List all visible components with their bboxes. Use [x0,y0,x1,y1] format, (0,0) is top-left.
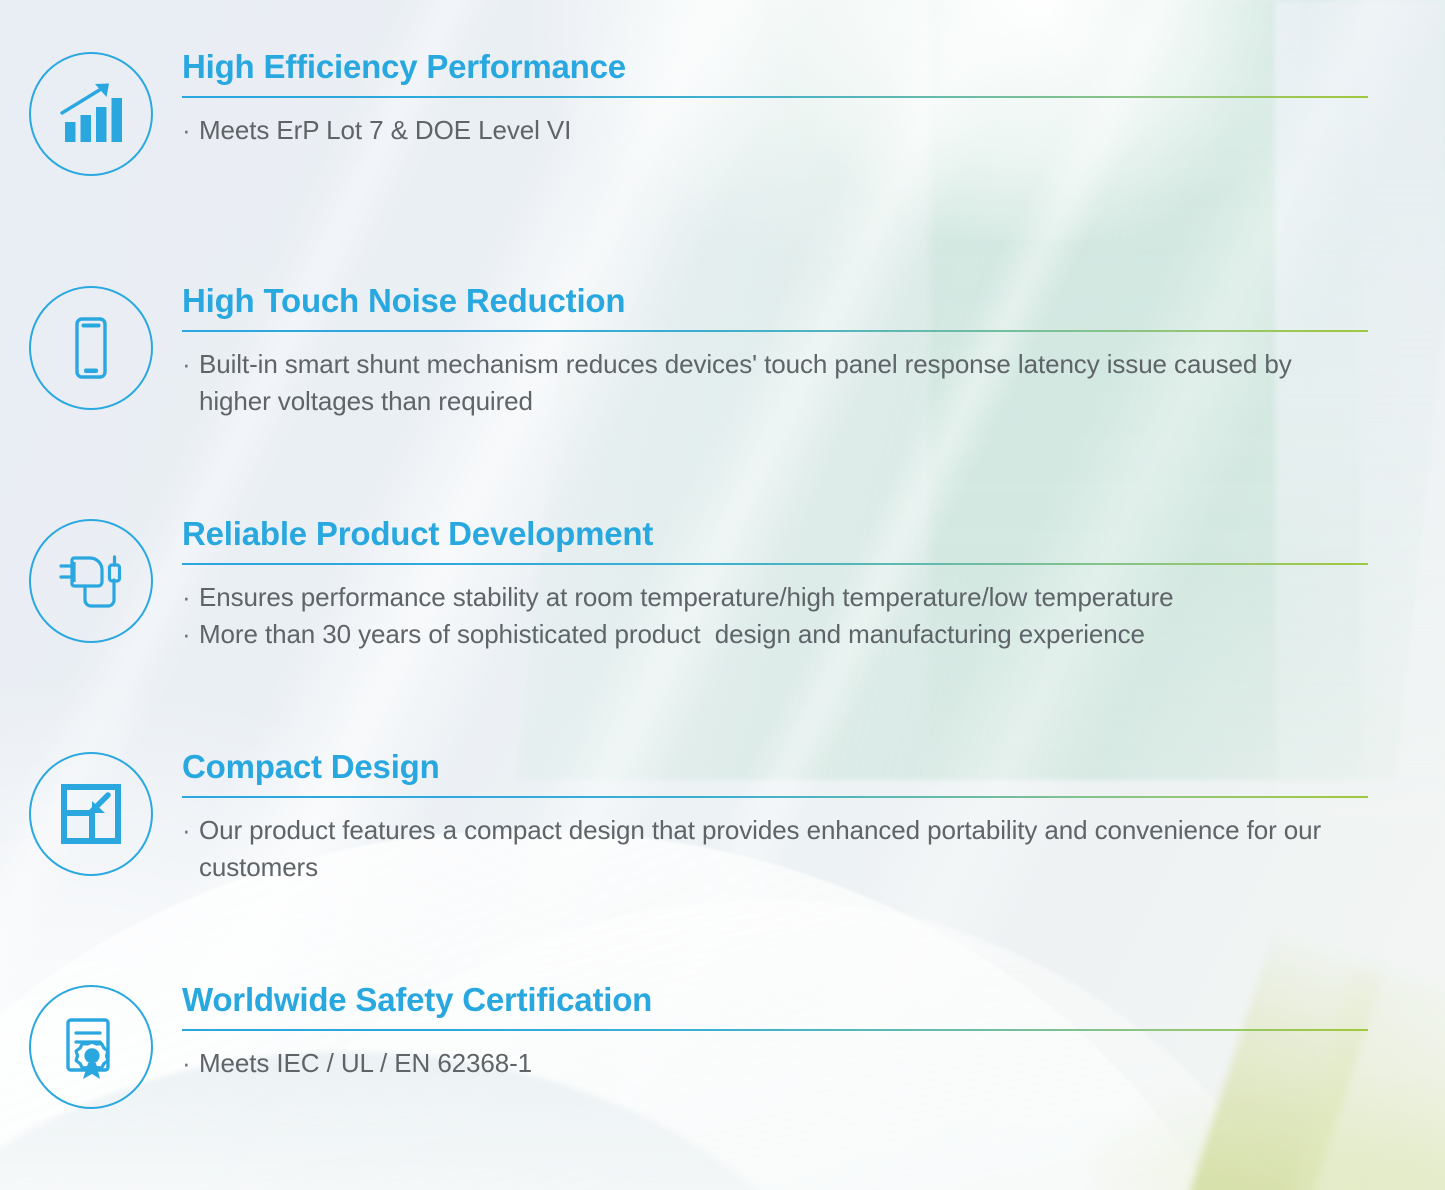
feature-icon-slot [0,50,182,176]
bullet-line: · Meets ErP Lot 7 & DOE Level VI [182,112,1368,149]
bullet-line: · Meets IEC / UL / EN 62368-1 [182,1045,1368,1082]
feature-text-slot: Worldwide Safety Certification · Meets I… [182,983,1445,1082]
feature-item-high-touch-noise-reduction: High Touch Noise Reduction · Built-in sm… [0,284,1445,420]
feature-text-slot: High Efficiency Performance · Meets ErP … [182,50,1445,149]
feature-item-reliable-product-development: Reliable Product Development · Ensures p… [0,517,1445,653]
feature-bullets: · Meets ErP Lot 7 & DOE Level VI [182,112,1368,149]
feature-bullets: · Ensures performance stability at room … [182,579,1368,653]
feature-title: Worldwide Safety Certification [182,983,1368,1018]
icon-circle [29,752,153,876]
icon-circle [29,985,153,1109]
power-adapter-icon [52,544,130,618]
feature-list-page: High Efficiency Performance · Meets ErP … [0,0,1445,1190]
bullet-marker: · [182,616,199,653]
feature-item-high-efficiency-performance: High Efficiency Performance · Meets ErP … [0,50,1445,176]
bullet-text: Meets ErP Lot 7 & DOE Level VI [199,112,1368,149]
compact-resize-icon [56,779,126,849]
icon-circle [29,519,153,643]
feature-title: Compact Design [182,750,1368,785]
bullet-text: Built-in smart shunt mechanism reduces d… [199,346,1368,420]
feature-title: High Touch Noise Reduction [182,284,1368,319]
feature-text-slot: High Touch Noise Reduction · Built-in sm… [182,284,1445,420]
bullet-marker: · [182,112,199,149]
feature-icon-slot [0,284,182,410]
feature-divider [182,796,1368,798]
feature-icon-slot [0,983,182,1109]
bullet-marker: · [182,579,199,616]
icon-circle [29,52,153,176]
bullet-text: Meets IEC / UL / EN 62368-1 [199,1045,1368,1082]
feature-text-slot: Reliable Product Development · Ensures p… [182,517,1445,653]
bullet-marker: · [182,812,199,886]
certificate-award-icon [55,1011,127,1083]
bullet-text: Ensures performance stability at room te… [199,579,1368,616]
feature-title: High Efficiency Performance [182,50,1368,85]
feature-divider [182,96,1368,98]
feature-divider [182,330,1368,332]
bullet-line: · Our product features a compact design … [182,812,1368,886]
feature-bullets: · Our product features a compact design … [182,812,1368,886]
feature-item-worldwide-safety-certification: Worldwide Safety Certification · Meets I… [0,983,1445,1109]
bar-chart-growth-icon [54,77,128,151]
bullet-marker: · [182,346,199,420]
feature-text-slot: Compact Design · Our product features a … [182,750,1445,886]
bullet-text: Our product features a compact design th… [199,812,1368,886]
feature-divider [182,563,1368,565]
feature-title: Reliable Product Development [182,517,1368,552]
feature-icon-slot [0,517,182,643]
feature-bullets: · Built-in smart shunt mechanism reduces… [182,346,1368,420]
feature-divider [182,1029,1368,1031]
bullet-line: · More than 30 years of sophisticated pr… [182,616,1368,653]
icon-circle [29,286,153,410]
smartphone-icon [54,311,128,385]
bullet-line: · Built-in smart shunt mechanism reduces… [182,346,1368,420]
bullet-text: More than 30 years of sophisticated prod… [199,616,1368,653]
bullet-line: · Ensures performance stability at room … [182,579,1368,616]
bullet-marker: · [182,1045,199,1082]
feature-icon-slot [0,750,182,876]
feature-item-compact-design: Compact Design · Our product features a … [0,750,1445,886]
feature-bullets: · Meets IEC / UL / EN 62368-1 [182,1045,1368,1082]
